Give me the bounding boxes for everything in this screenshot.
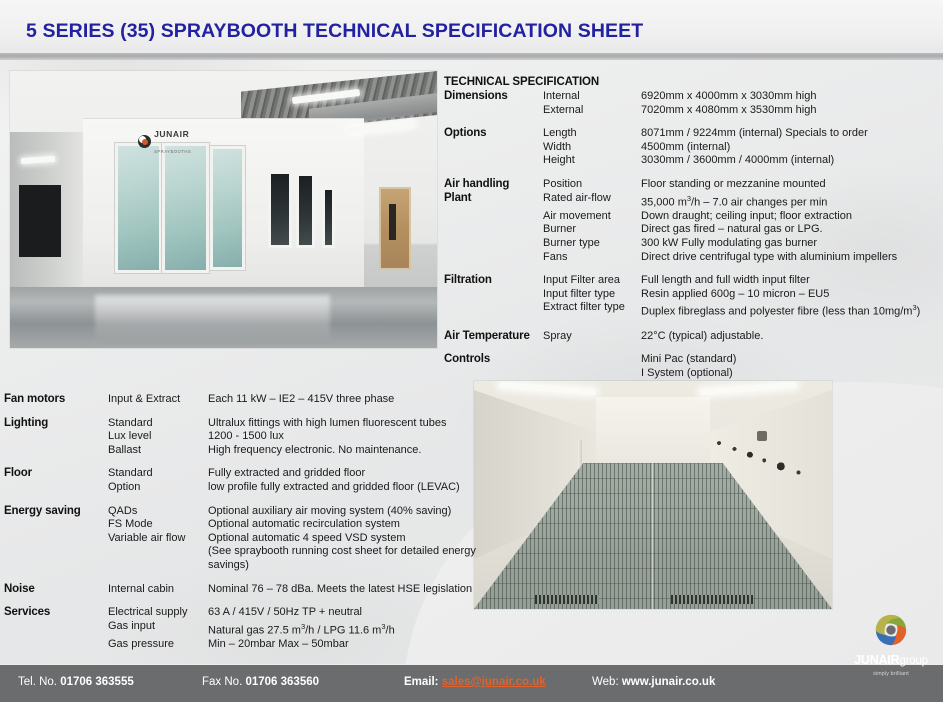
spec-row: Input filter typeResin applied 600g – 10… <box>543 288 939 302</box>
spec-rows: Input Filter areaFull length and full wi… <box>543 274 939 319</box>
spec-row-sublabel: Internal <box>543 90 641 104</box>
spec-row-sublabel: Gas input <box>108 620 208 638</box>
spec-row: I System (optional) <box>543 367 939 381</box>
spec-row: PositionFloor standing or mezzanine moun… <box>543 178 939 192</box>
spec-rows: Mini Pac (standard)I System (optional) <box>543 353 939 380</box>
spec-group-label: Energy saving <box>4 505 108 573</box>
spec-group-label: Dimensions <box>444 90 543 117</box>
spec-row-value: Optional automatic recirculation system <box>208 518 476 532</box>
spec-row-sublabel: Height <box>543 154 641 168</box>
page-title: 5 SERIES (35) SPRAYBOOTH TECHNICAL SPECI… <box>26 20 643 43</box>
spec-row-sublabel: Lux level <box>108 430 208 444</box>
booth-window-1 <box>268 171 292 249</box>
spec-row: BallastHigh frequency electronic. No mai… <box>108 444 474 458</box>
spec-group: Air handlingPlantPositionFloor standing … <box>444 178 939 264</box>
spec-row-value: Duplex fibreglass and polyester fibre (l… <box>641 301 939 319</box>
spec-row-sublabel: Air movement <box>543 210 641 224</box>
spec-row: Mini Pac (standard) <box>543 353 939 367</box>
spec-row: Electrical supply63 A / 415V / 50Hz TP +… <box>108 606 474 620</box>
footer-web-address: www.junair.co.uk <box>622 676 716 688</box>
equipment-specification-section: Fan motorsInput & ExtractEach 11 kW – IE… <box>4 393 474 652</box>
spec-row-sublabel: Input & Extract <box>108 393 208 407</box>
spec-row-sublabel: Variable air flow <box>108 532 208 546</box>
spec-group-label: Options <box>444 127 543 168</box>
footer-telephone: Tel. No. 01706 363555 <box>18 676 134 688</box>
spec-rows: StandardFully extracted and gridded floo… <box>108 467 474 494</box>
spec-rows: Internal6920mm x 4000mm x 3030mm highExt… <box>543 90 939 117</box>
spec-row-sublabel: External <box>543 104 641 118</box>
brand-group-text: group <box>899 655 927 667</box>
junair-mark-icon <box>138 135 151 148</box>
footer-fax-number: 01706 363560 <box>245 676 319 688</box>
spec-row: Burner type300 kW Fully modulating gas b… <box>543 237 939 251</box>
technical-specification-groups: DimensionsInternal6920mm x 4000mm x 3030… <box>444 90 939 380</box>
spec-row-value: savings) <box>208 559 476 573</box>
spec-row-sublabel: Rated air-flow <box>543 192 641 210</box>
spec-row: savings) <box>108 559 476 573</box>
spec-group-label: Filtration <box>444 274 543 319</box>
spec-rows: Spray22°C (typical) adjustable. <box>543 330 939 344</box>
spec-row-value: Optional automatic 4 speed VSD system <box>208 532 476 546</box>
spec-row: BurnerDirect gas fired – natural gas or … <box>543 223 939 237</box>
interior-wall-fixture <box>757 431 767 441</box>
spec-group: FiltrationInput Filter areaFull length a… <box>444 274 939 319</box>
equipment-specification-groups: Fan motorsInput & ExtractEach 11 kW – IE… <box>4 393 474 652</box>
footer-web: Web: www.junair.co.uk <box>592 676 715 688</box>
spec-row: Width4500mm (internal) <box>543 141 939 155</box>
spec-row-value: 1200 - 1500 lux <box>208 430 474 444</box>
spec-row: Rated air-flow35,000 m3/h – 7.0 air chan… <box>543 192 939 210</box>
spec-row-value: High frequency electronic. No maintenanc… <box>208 444 474 458</box>
spec-row-value: (See spraybooth running cost sheet for d… <box>208 545 476 559</box>
spec-row-value: 300 kW Fully modulating gas burner <box>641 237 939 251</box>
spec-group-label: Noise <box>4 583 108 597</box>
spec-row: Length8071mm / 9224mm (internal) Special… <box>543 127 939 141</box>
spec-group: FloorStandardFully extracted and gridded… <box>4 467 474 494</box>
spec-row-value: Resin applied 600g – 10 micron – EU5 <box>641 288 939 302</box>
spec-group-label: Fan motors <box>4 393 108 407</box>
spec-rows: Internal cabinNominal 76 – 78 dBa. Meets… <box>108 583 474 597</box>
spec-group: Fan motorsInput & ExtractEach 11 kW – IE… <box>4 393 474 407</box>
spec-row: Height3030mm / 3600mm / 4000mm (internal… <box>543 154 939 168</box>
spec-group-label-line2: Plant <box>444 192 471 204</box>
spec-row-sublabel: Electrical supply <box>108 606 208 620</box>
spec-row-value: 6920mm x 4000mm x 3030mm high <box>641 90 939 104</box>
junair-wordmark: JUNAIRgroup <box>843 654 939 668</box>
booth-brand-signage: JUNAIR SPRAYBOOTHS <box>138 125 191 157</box>
spec-row-sublabel: Spray <box>543 330 641 344</box>
booth-sign-secondary: SPRAYBOOTHS <box>154 149 191 154</box>
spec-group-label: Services <box>4 606 108 651</box>
booth-glass-door-left <box>115 143 162 273</box>
booth-window-3 <box>322 187 336 248</box>
spec-row: Gas inputNatural gas 27.5 m3/h / LPG 11.… <box>108 620 474 638</box>
spec-row-value: Down draught; ceiling input; floor extra… <box>641 210 939 224</box>
spec-row-sublabel: Gas pressure <box>108 638 208 652</box>
spraybooth-exterior-photo: JUNAIR SPRAYBOOTHS <box>10 71 437 348</box>
spec-row-sublabel: Width <box>543 141 641 155</box>
spec-row-value: Floor standing or mezzanine mounted <box>641 178 939 192</box>
brand-name-text: JUNAIR <box>854 653 899 667</box>
spec-group: ServicesElectrical supply63 A / 415V / 5… <box>4 606 474 651</box>
spec-row-value: 4500mm (internal) <box>641 141 939 155</box>
spec-group-label: Air Temperature <box>444 330 543 344</box>
spec-sheet-page: 5 SERIES (35) SPRAYBOOTH TECHNICAL SPECI… <box>0 0 943 702</box>
floor-vent-right <box>671 595 753 604</box>
spec-row-value: Ultralux fittings with high lumen fluore… <box>208 417 474 431</box>
spec-group: ControlsMini Pac (standard)I System (opt… <box>444 353 939 380</box>
footer-fax: Fax No. 01706 363560 <box>202 676 319 688</box>
spec-row-sublabel: Burner type <box>543 237 641 251</box>
brand-tagline: simply brilliant <box>843 671 939 677</box>
footer-email: Email: sales@junair.co.uk <box>404 676 546 688</box>
spec-row-value: Min – 20mbar Max – 50mbar <box>208 638 474 652</box>
spec-group-label: Floor <box>4 467 108 494</box>
exterior-floor-reflection <box>95 295 330 342</box>
spec-row-value: 63 A / 415V / 50Hz TP + neutral <box>208 606 474 620</box>
spec-row: FS ModeOptional automatic recirculation … <box>108 518 476 532</box>
spec-row: Extract filter typeDuplex fibreglass and… <box>543 301 939 319</box>
booth-glass-door-right <box>210 146 245 271</box>
spec-group-label: Air handlingPlant <box>444 178 543 264</box>
booth-glass-door-center <box>162 143 209 273</box>
spraybooth-interior-floor-photo <box>474 381 832 609</box>
footer-web-label: Web: <box>592 676 622 688</box>
spec-row-sublabel: Ballast <box>108 444 208 458</box>
booth-window-2 <box>296 173 315 248</box>
spec-row: QADsOptional auxiliary air moving system… <box>108 505 476 519</box>
spec-row-value: Direct drive centrifugal type with alumi… <box>641 251 939 265</box>
spec-row-value: 8071mm / 9224mm (internal) Specials to o… <box>641 127 939 141</box>
technical-specification-heading: TECHNICAL SPECIFICATION <box>444 76 939 88</box>
spec-row-sublabel <box>108 545 208 559</box>
spec-row-sublabel <box>108 559 208 573</box>
spec-row: Lux level1200 - 1500 lux <box>108 430 474 444</box>
spec-row-sublabel: Standard <box>108 467 208 481</box>
technical-specification-section: TECHNICAL SPECIFICATION DimensionsIntern… <box>444 76 939 380</box>
spec-row: External7020mm x 4080mm x 3530mm high <box>543 104 939 118</box>
spec-group-label: Lighting <box>4 417 108 458</box>
spec-group: Energy savingQADsOptional auxiliary air … <box>4 505 474 573</box>
footer-fax-label: Fax No. <box>202 676 245 688</box>
spec-row-value: 22°C (typical) adjustable. <box>641 330 939 344</box>
spec-row-value: Nominal 76 – 78 dBa. Meets the latest HS… <box>208 583 474 597</box>
spec-row-sublabel: Burner <box>543 223 641 237</box>
spec-row-value: Mini Pac (standard) <box>641 353 939 367</box>
workshop-door-vision-panel <box>389 204 396 240</box>
footer-bar: Tel. No. 01706 363555 Fax No. 01706 3635… <box>0 664 943 702</box>
spec-group-label: Controls <box>444 353 543 380</box>
footer-email-link[interactable]: sales@junair.co.uk <box>442 676 546 688</box>
spec-row-sublabel: Fans <box>543 251 641 265</box>
floor-vent-left <box>535 595 599 604</box>
spec-row-value: Natural gas 27.5 m3/h / LPG 11.6 m3/h <box>208 620 474 638</box>
spec-rows: QADsOptional auxiliary air moving system… <box>108 505 476 573</box>
spec-row: StandardUltralux fittings with high lume… <box>108 417 474 431</box>
spec-row-sublabel <box>543 353 641 367</box>
spec-row-value: Direct gas fired – natural gas or LPG. <box>641 223 939 237</box>
footer-tel-label: Tel. No. <box>18 676 60 688</box>
spec-rows: Length8071mm / 9224mm (internal) Special… <box>543 127 939 168</box>
spec-rows: StandardUltralux fittings with high lume… <box>108 417 474 458</box>
spec-row-value: 35,000 m3/h – 7.0 air changes per min <box>641 192 939 210</box>
spec-row: FansDirect drive centrifugal type with a… <box>543 251 939 265</box>
spec-row-value: Full length and full width input filter <box>641 274 939 288</box>
spec-row-value: Fully extracted and gridded floor <box>208 467 474 481</box>
spec-row-sublabel: Option <box>108 481 208 495</box>
spec-row: Spray22°C (typical) adjustable. <box>543 330 939 344</box>
spec-row: Optionlow profile fully extracted and gr… <box>108 481 474 495</box>
spec-rows: PositionFloor standing or mezzanine moun… <box>543 178 939 264</box>
spec-group: DimensionsInternal6920mm x 4000mm x 3030… <box>444 90 939 117</box>
exterior-corridor-doorway <box>19 185 62 257</box>
floor-center-seam <box>652 463 654 609</box>
spec-row-sublabel: FS Mode <box>108 518 208 532</box>
spec-row-sublabel <box>543 367 641 381</box>
spec-group: Air TemperatureSpray22°C (typical) adjus… <box>444 330 939 344</box>
spec-row-sublabel: Length <box>543 127 641 141</box>
spec-row: Internal cabinNominal 76 – 78 dBa. Meets… <box>108 583 474 597</box>
spec-row-value: Optional auxiliary air moving system (40… <box>208 505 476 519</box>
spec-row-sublabel: Extract filter type <box>543 301 641 319</box>
spec-row-value: 7020mm x 4080mm x 3530mm high <box>641 104 939 118</box>
spec-group: OptionsLength8071mm / 9224mm (internal) … <box>444 127 939 168</box>
booth-sign-primary: JUNAIR <box>154 129 189 139</box>
spec-row: Variable air flowOptional automatic 4 sp… <box>108 532 476 546</box>
junair-group-logo: JUNAIRgroup simply brilliant <box>843 612 939 674</box>
spec-group: LightingStandardUltralux fittings with h… <box>4 417 474 458</box>
spec-row: Input & ExtractEach 11 kW – IE2 – 415V t… <box>108 393 474 407</box>
spec-row-sublabel: Internal cabin <box>108 583 208 597</box>
spec-row: Air movementDown draught; ceiling input;… <box>543 210 939 224</box>
spec-rows: Electrical supply63 A / 415V / 50Hz TP +… <box>108 606 474 651</box>
spec-row-value: 3030mm / 3600mm / 4000mm (internal) <box>641 154 939 168</box>
spec-row-sublabel: Standard <box>108 417 208 431</box>
spec-row-value: low profile fully extracted and gridded … <box>208 481 474 495</box>
spec-row-sublabel: Position <box>543 178 641 192</box>
footer-email-label: Email: <box>404 676 442 688</box>
spec-row-sublabel: Input filter type <box>543 288 641 302</box>
spec-row-value: I System (optional) <box>641 367 939 381</box>
junair-swirl-icon <box>873 612 909 648</box>
spec-row: Gas pressureMin – 20mbar Max – 50mbar <box>108 638 474 652</box>
footer-tel-number: 01706 363555 <box>60 676 134 688</box>
spec-row: StandardFully extracted and gridded floo… <box>108 467 474 481</box>
spec-row-sublabel: QADs <box>108 505 208 519</box>
spec-row-sublabel: Input Filter area <box>543 274 641 288</box>
spec-group: NoiseInternal cabinNominal 76 – 78 dBa. … <box>4 583 474 597</box>
header-divider <box>0 53 943 60</box>
spec-rows: Input & ExtractEach 11 kW – IE2 – 415V t… <box>108 393 474 407</box>
spec-row: Input Filter areaFull length and full wi… <box>543 274 939 288</box>
spec-row-value: Each 11 kW – IE2 – 415V three phase <box>208 393 474 407</box>
spec-row: (See spraybooth running cost sheet for d… <box>108 545 476 559</box>
spec-row: Internal6920mm x 4000mm x 3030mm high <box>543 90 939 104</box>
